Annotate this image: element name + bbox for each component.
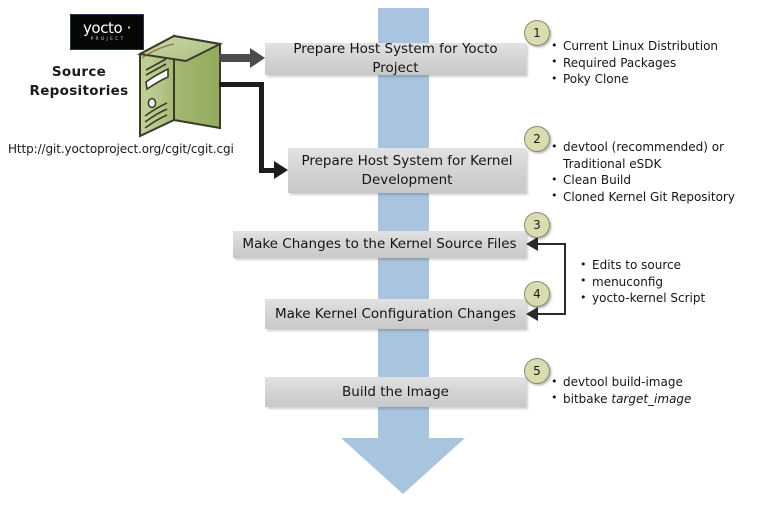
- yocto-project-logo: yocto · PROJECT: [70, 14, 144, 50]
- main-flow-arrow-head: [341, 438, 465, 494]
- server-tower-icon: [136, 32, 228, 139]
- yocto-logo-sub-text: PROJECT: [91, 38, 126, 43]
- list-item: Edits to source: [580, 257, 760, 274]
- step-number-circle-2: 2: [524, 126, 550, 152]
- step-box-2[interactable]: Prepare Host System for Kernel Developme…: [288, 148, 526, 193]
- step-2-bullet-list: devtool (recommended) or Traditional eSD…: [551, 139, 763, 205]
- diagram-canvas: yocto · PROJECT Source Repositories Http…: [0, 0, 769, 517]
- source-label-line-2: Repositories: [18, 82, 140, 101]
- list-item: devtool (recommended) or Traditional eSD…: [551, 139, 763, 172]
- step-number-circle-3: 3: [524, 212, 550, 238]
- connector-server-to-step2-horizontal: [219, 82, 264, 87]
- step-number-circle-1: 1: [524, 20, 550, 46]
- bracket-step4-horizontal: [538, 313, 566, 315]
- yocto-logo-main-text: yocto ·: [83, 21, 131, 36]
- list-item: devtool build-image: [551, 374, 766, 391]
- list-item: Clean Build: [551, 172, 763, 189]
- step-1-bullet-list: Current Linux Distribution Required Pack…: [551, 38, 766, 88]
- step-box-5[interactable]: Build the Image: [265, 377, 526, 407]
- list-item: yocto-kernel Script: [580, 290, 760, 307]
- bracket-step3-horizontal: [538, 243, 566, 245]
- connector-server-to-step2-arrowhead: [274, 161, 288, 179]
- bracket-steps-34-vertical: [564, 243, 566, 315]
- step-box-4[interactable]: Make Kernel Configuration Changes: [265, 299, 526, 329]
- connector-server-to-step1-line: [219, 54, 251, 62]
- list-item: menuconfig: [580, 274, 760, 291]
- step-box-3[interactable]: Make Changes to the Kernel Source Files: [233, 231, 526, 258]
- step-number-circle-4: 4: [524, 281, 550, 307]
- bitbake-command-text: bitbake: [563, 392, 611, 406]
- source-repositories-label: Source Repositories: [18, 63, 140, 101]
- list-item: Required Packages: [551, 55, 766, 72]
- list-item: bitbake target_image: [551, 391, 766, 408]
- connector-server-to-step2-vertical: [259, 82, 264, 168]
- step-box-1[interactable]: Prepare Host System for Yocto Project: [265, 43, 526, 75]
- steps-3-4-bullet-list: Edits to source menuconfig yocto-kernel …: [580, 257, 760, 307]
- list-item: Cloned Kernel Git Repository: [551, 189, 763, 206]
- step-5-bullet-list: devtool build-image bitbake target_image: [551, 374, 766, 407]
- source-label-line-1: Source: [18, 63, 140, 82]
- source-repository-url: Http://git.yoctoproject.org/cgit/cgit.cg…: [8, 142, 234, 156]
- list-item: Poky Clone: [551, 71, 766, 88]
- connector-server-to-step1-arrowhead: [250, 48, 265, 68]
- bracket-step3-arrowhead: [526, 237, 538, 251]
- bitbake-target-placeholder: target_image: [611, 392, 691, 406]
- list-item: Current Linux Distribution: [551, 38, 766, 55]
- bracket-step4-arrowhead: [526, 307, 538, 321]
- step-number-circle-5: 5: [524, 358, 550, 384]
